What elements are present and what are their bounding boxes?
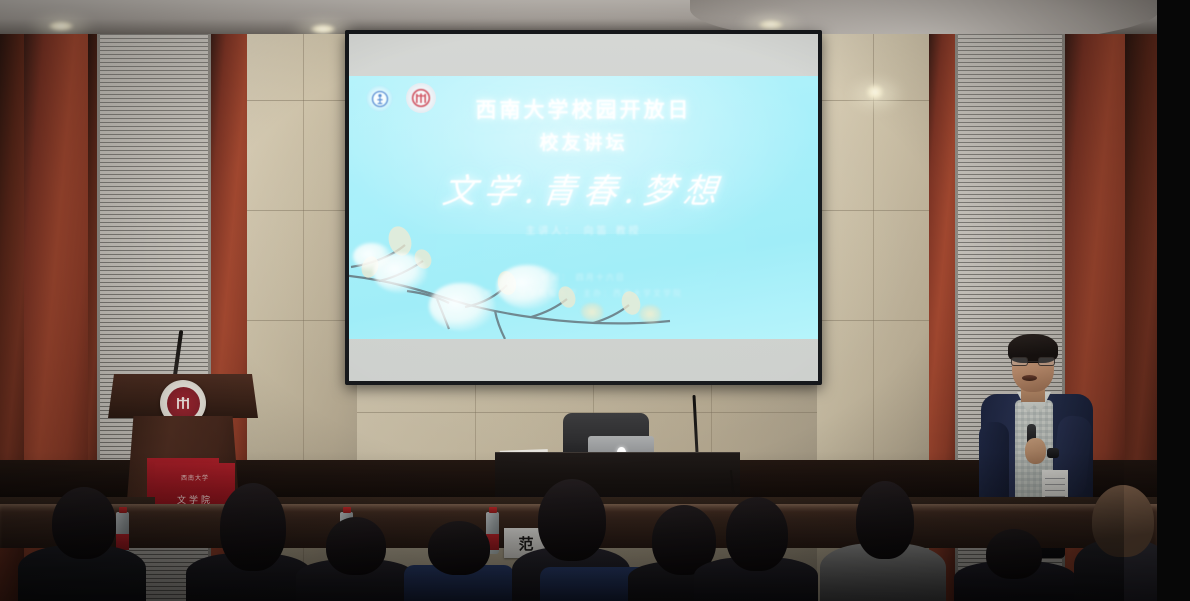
speaker-hand	[1025, 438, 1046, 464]
magnolia-branch-artwork	[349, 223, 675, 339]
audience-head	[428, 521, 490, 575]
audience-head	[326, 517, 386, 575]
audience-head	[856, 481, 914, 559]
speaker-mouth	[1022, 375, 1037, 381]
magnolia-blossom	[353, 243, 391, 271]
slide-title: 西南大学校园开放日	[349, 94, 818, 124]
auditorium-room: 西南大学校园开放日 校友讲坛 文学.青春.梦想 主讲人： 向笛 教授 时间： 四…	[0, 0, 1157, 601]
audience-head	[52, 487, 116, 559]
slide-script-theme: 文学.青春.梦想	[349, 164, 818, 213]
audience-head	[538, 479, 606, 561]
wristwatch	[1047, 448, 1059, 458]
screen-surface: 西南大学校园开放日 校友讲坛 文学.青春.梦想 主讲人： 向笛 教授 时间： 四…	[349, 34, 818, 381]
projection-screen: 西南大学校园开放日 校友讲坛 文学.青春.梦想 主讲人： 向笛 教授 时间： 四…	[345, 30, 822, 385]
presentation-slide: 西南大学校园开放日 校友讲坛 文学.青春.梦想 主讲人： 向笛 教授 时间： 四…	[349, 76, 818, 339]
letterbox-bar	[1157, 0, 1190, 601]
lecture-hall-photo: 西南大学校园开放日 校友讲坛 文学.青春.梦想 主讲人： 向笛 教授 时间： 四…	[0, 0, 1190, 601]
glasses-left-lens	[1011, 357, 1028, 366]
audience-head	[726, 497, 788, 571]
magnolia-blossom	[429, 283, 495, 331]
magnolia-blossom	[497, 265, 559, 309]
glasses-bridge	[1028, 361, 1038, 362]
audience-group	[0, 471, 1157, 601]
slide-subtitle: 校友讲坛	[349, 128, 818, 155]
wall-light-glow	[846, 74, 906, 114]
glasses-right-lens	[1038, 357, 1055, 366]
eyeglasses-icon	[1011, 357, 1055, 366]
audience-head	[986, 529, 1042, 579]
magnolia-bud	[639, 305, 661, 323]
crest-inner	[167, 387, 200, 420]
audience-head	[220, 483, 286, 571]
magnolia-bud	[581, 303, 603, 321]
audience-head	[1092, 485, 1154, 557]
